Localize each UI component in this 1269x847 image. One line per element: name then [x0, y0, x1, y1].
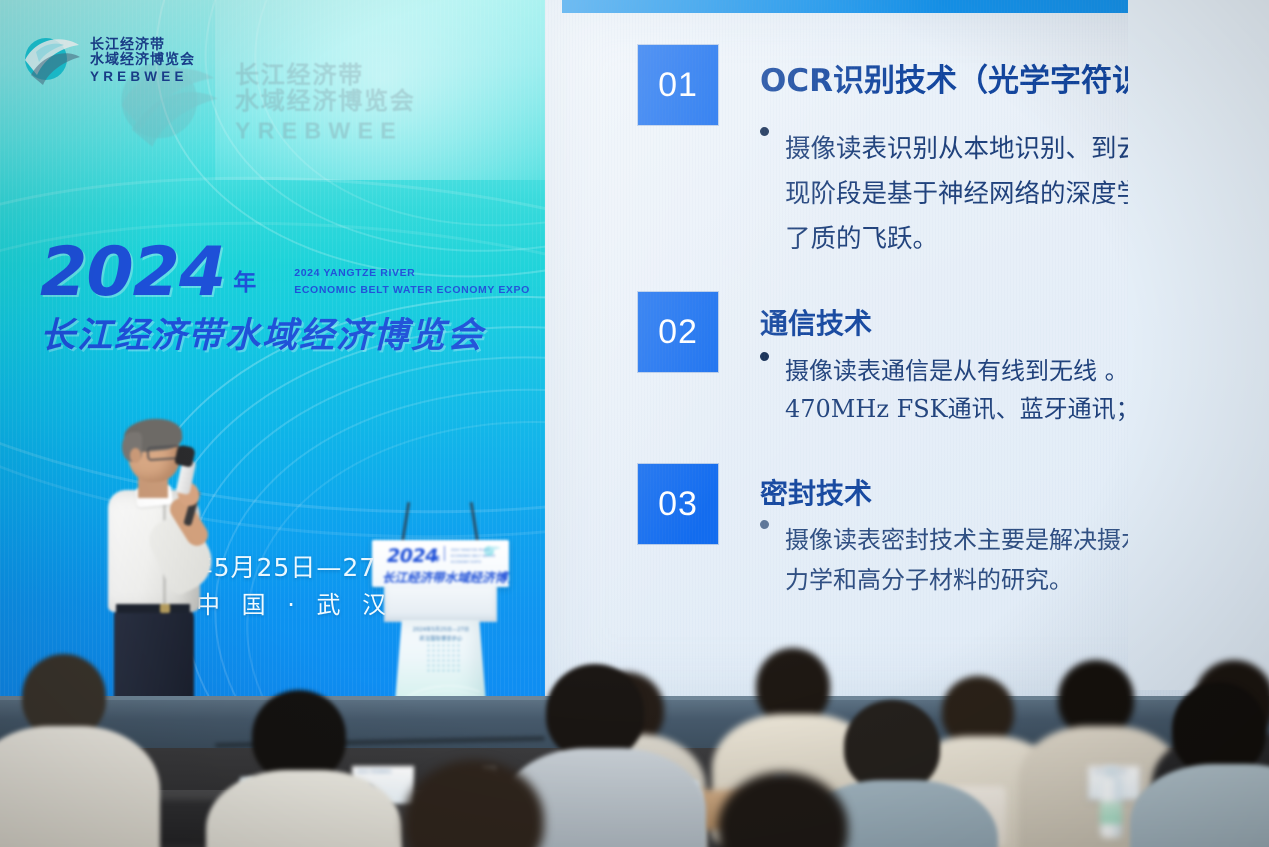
speaker-presenter: [100, 424, 230, 724]
podium-sign-logo-icon: [483, 545, 503, 558]
headline-en-line2: ECONOMIC BELT WATER ECONOMY EXPO: [294, 282, 530, 298]
right-wall: [1128, 0, 1269, 690]
audience-head: [252, 690, 346, 782]
water-bottle: [1100, 776, 1122, 838]
speaker-ear: [130, 448, 141, 463]
logo-en: YREBWEE: [90, 70, 195, 85]
bottle-cap: [1104, 767, 1118, 777]
audience-body: [0, 726, 160, 847]
logo-cn-line1-ghost: 长江经济带: [235, 64, 416, 90]
podium-sign: 2024 年 2024 YANGTZE RIVER ECONOMIC BELT …: [372, 540, 509, 587]
headline-year-suffix: 年: [233, 263, 256, 297]
speaker-belt: [116, 604, 190, 613]
logo-cn-line1: 长江经济带: [90, 38, 195, 53]
logo-cn-line2: 水域经济博览会: [90, 53, 195, 68]
audience-head: [844, 700, 940, 792]
podium-sign-divider: [444, 546, 445, 561]
audience-head: [756, 648, 830, 724]
conference-photo-scene: 长江经济带 水域经济博览会 YREBWEE 长江经济带 水域经济博览会 YREB: [0, 0, 1269, 847]
podium-sign-title: 长江经济带水域经济博览会: [382, 567, 509, 586]
podium-mic-stand-left: [401, 502, 411, 544]
logo-cn-line2-ghost: 水域经济博览会: [235, 90, 416, 116]
expo-logo-lockup: 长江经济带 水域经济博览会 YREBWEE 长江经济带 水域经济博览会 YREB: [22, 32, 322, 142]
podium-sign-year: 2024: [387, 545, 438, 567]
headline-chinese-title: 长江经济带水域经济博览会: [40, 307, 520, 358]
expo-headline: 2024 年 2024 YANGTZE RIVER ECONOMIC BELT …: [40, 243, 520, 358]
podium-dot-pattern: [426, 638, 460, 672]
audience-head: [546, 664, 644, 760]
podium-mic-stand-right: [470, 502, 480, 544]
speaker-belt-buckle: [160, 604, 170, 613]
wave-circle-logo-mark: [22, 32, 82, 90]
audience-head: [1058, 660, 1134, 736]
bottle-label: [1100, 802, 1122, 824]
headline-english: 2024 YANGTZE RIVER ECONOMIC BELT WATER E…: [294, 265, 530, 298]
podium-front-date: 2024年5月25日—27日: [400, 626, 482, 633]
headline-en-line1: 2024 YANGTZE RIVER: [294, 265, 530, 281]
expo-logo-main: 长江经济带 水域经济博览会 YREBWEE: [22, 32, 195, 90]
podium-sign-year-suffix: 年: [433, 554, 440, 564]
headline-year: 2024: [40, 243, 225, 303]
name-card-header: 2024 YREBWEE: [357, 770, 392, 775]
audience-head: [1172, 682, 1266, 776]
logo-en-ghost: YREBWEE: [235, 119, 416, 144]
podium-neck: [384, 586, 497, 622]
